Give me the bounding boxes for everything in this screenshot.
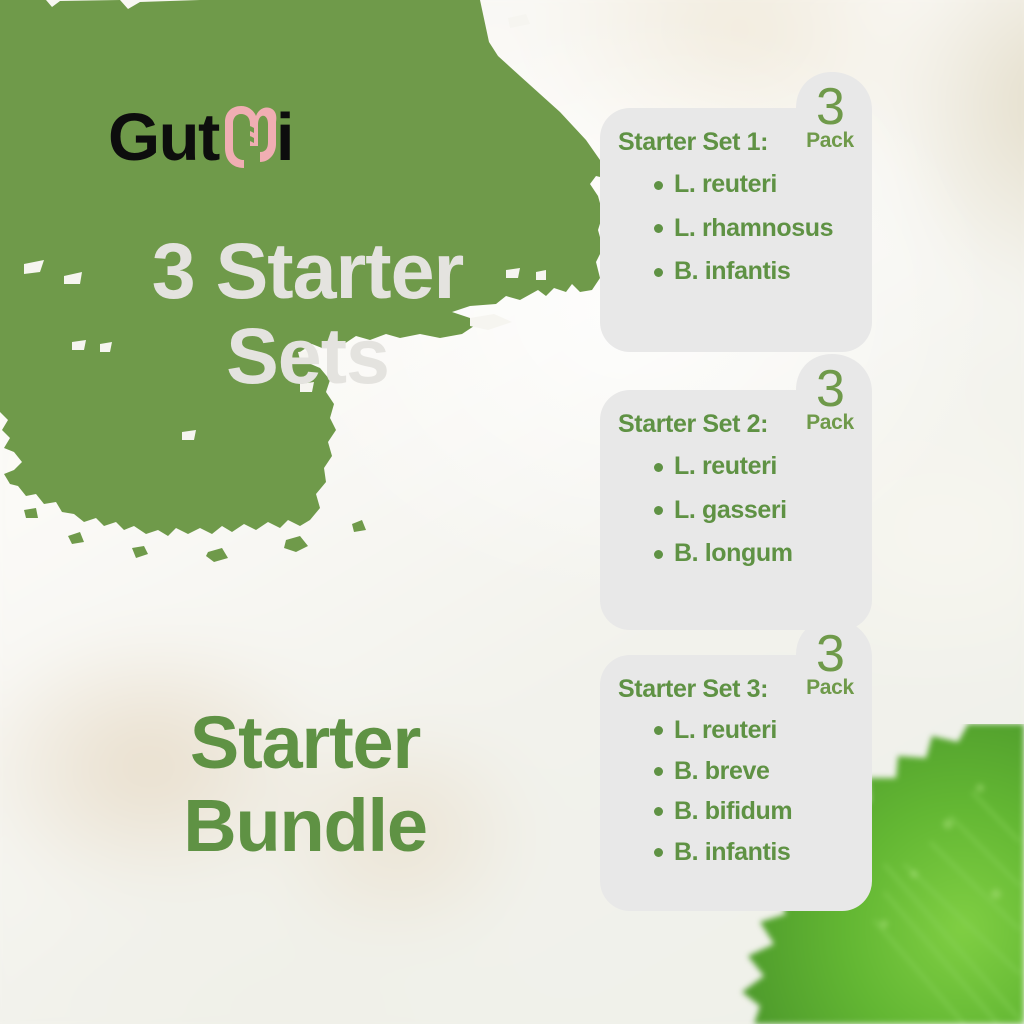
strain-list: L. reuteri L. gasseri B. longum [616,445,856,576]
strain-name: B. bifidum [674,797,792,825]
headline-line-2: Sets [60,313,555,398]
starter-set-card[interactable]: 3 Pack Starter Set 2: L. reuteri L. gass… [600,390,872,630]
brand-logo: Gut i [108,100,293,174]
bullet-icon [654,268,663,277]
strain-name: B. breve [674,757,769,785]
badge-content: 3 Pack [786,611,874,715]
logo-text-suffix: i [276,104,293,171]
bullet-icon [654,506,663,515]
pack-count-badge: 3 Pack [786,346,874,450]
badge-label: Pack [806,677,854,698]
bullet-icon [654,463,663,472]
strain-name: L. rhamnosus [674,214,833,242]
strain-list: L. reuteri L. rhamnosus B. infantis [616,163,856,294]
strain-list: L. reuteri B. breve B. bifidum B. infant… [616,710,856,872]
headline-line-1: 3 Starter [60,228,555,313]
list-item: L. reuteri [616,710,856,751]
strain-name: B. infantis [674,838,790,866]
list-item: L. gasseri [616,489,856,533]
list-item: L. reuteri [616,445,856,489]
strain-name: L. gasseri [674,496,787,524]
bullet-icon [654,224,663,233]
product-poster: Gut i 3 Starter Sets Starter Bundle [0,0,1024,1024]
list-item: B. breve [616,751,856,792]
list-item: B. bifidum [616,791,856,832]
strain-name: B. longum [674,539,793,567]
badge-label: Pack [806,412,854,433]
pack-count-badge: 3 Pack [786,611,874,715]
bullet-icon [654,550,663,559]
badge-content: 3 Pack [786,346,874,450]
product-name: Starter Bundle [55,702,555,868]
starter-set-card[interactable]: 3 Pack Starter Set 1: L. reuteri L. rham… [600,108,872,352]
badge-label: Pack [806,130,854,151]
subhead-line-2: Bundle [55,785,555,868]
subhead-line-1: Starter [55,702,555,785]
bullet-icon [654,726,663,735]
strain-name: L. reuteri [674,170,777,198]
badge-number: 3 [816,85,844,130]
bullet-icon [654,848,663,857]
strain-name: L. reuteri [674,716,777,744]
starter-set-card[interactable]: 3 Pack Starter Set 3: L. reuteri B. brev… [600,655,872,911]
list-item: B. infantis [616,250,856,294]
strain-name: B. infantis [674,257,790,285]
logo-text-prefix: Gut [108,104,219,171]
bullet-icon [654,767,663,776]
list-item: L. reuteri [616,163,856,207]
pack-count-badge: 3 Pack [786,64,874,168]
list-item: L. rhamnosus [616,207,856,251]
strain-name: L. reuteri [674,452,777,480]
list-item: B. infantis [616,832,856,873]
badge-number: 3 [816,632,844,677]
bullet-icon [654,181,663,190]
list-item: B. longum [616,532,856,576]
bullet-icon [654,807,663,816]
gut-intestine-icon [216,104,278,170]
badge-content: 3 Pack [786,64,874,168]
badge-number: 3 [816,367,844,412]
page-title: 3 Starter Sets [60,228,555,399]
